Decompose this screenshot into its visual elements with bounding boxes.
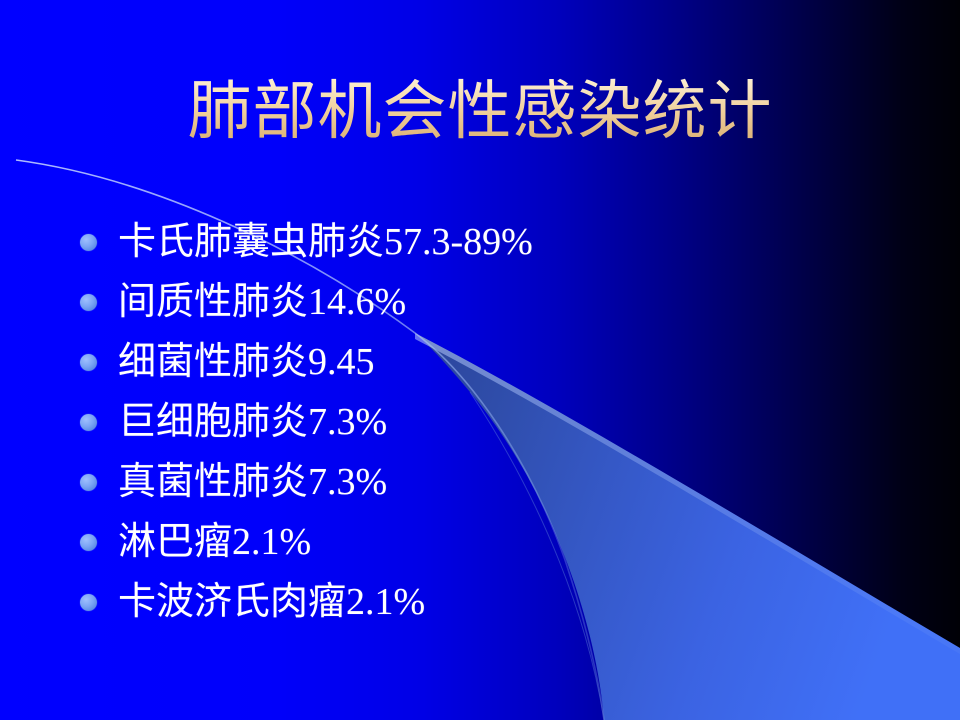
bullet-list: 卡氏肺囊虫肺炎57.3-89% 间质性肺炎14.6% 细菌性肺炎9.45 巨细胞…	[80, 212, 880, 632]
list-item: 真菌性肺炎7.3%	[80, 452, 880, 512]
round-bullet-icon	[80, 354, 97, 371]
list-item-label: 真菌性肺炎7.3%	[118, 463, 880, 501]
list-item: 细菌性肺炎9.45	[80, 332, 880, 392]
presentation-slide: 肺部机会性感染统计 卡氏肺囊虫肺炎57.3-89% 间质性肺炎14.6% 细菌性…	[0, 0, 960, 720]
round-bullet-icon	[80, 594, 97, 611]
list-item: 巨细胞肺炎7.3%	[80, 392, 880, 452]
list-item-label: 巨细胞肺炎7.3%	[118, 403, 880, 441]
page-title: 肺部机会性感染统计	[188, 78, 773, 145]
list-item-label: 卡氏肺囊虫肺炎57.3-89%	[118, 223, 880, 261]
round-bullet-icon	[80, 414, 97, 431]
round-bullet-icon	[80, 294, 97, 311]
round-bullet-icon	[80, 234, 97, 251]
list-item: 间质性肺炎14.6%	[80, 272, 880, 332]
list-item: 卡波济氏肉瘤2.1%	[80, 572, 880, 632]
list-item-label: 细菌性肺炎9.45	[118, 343, 880, 381]
list-item-label: 间质性肺炎14.6%	[118, 283, 880, 321]
list-item-label: 卡波济氏肉瘤2.1%	[118, 583, 880, 621]
round-bullet-icon	[80, 534, 97, 551]
list-item: 淋巴瘤2.1%	[80, 512, 880, 572]
round-bullet-icon	[80, 474, 97, 491]
list-item: 卡氏肺囊虫肺炎57.3-89%	[80, 212, 880, 272]
slide-title-block: 肺部机会性感染统计	[0, 78, 960, 145]
list-item-label: 淋巴瘤2.1%	[118, 523, 880, 561]
